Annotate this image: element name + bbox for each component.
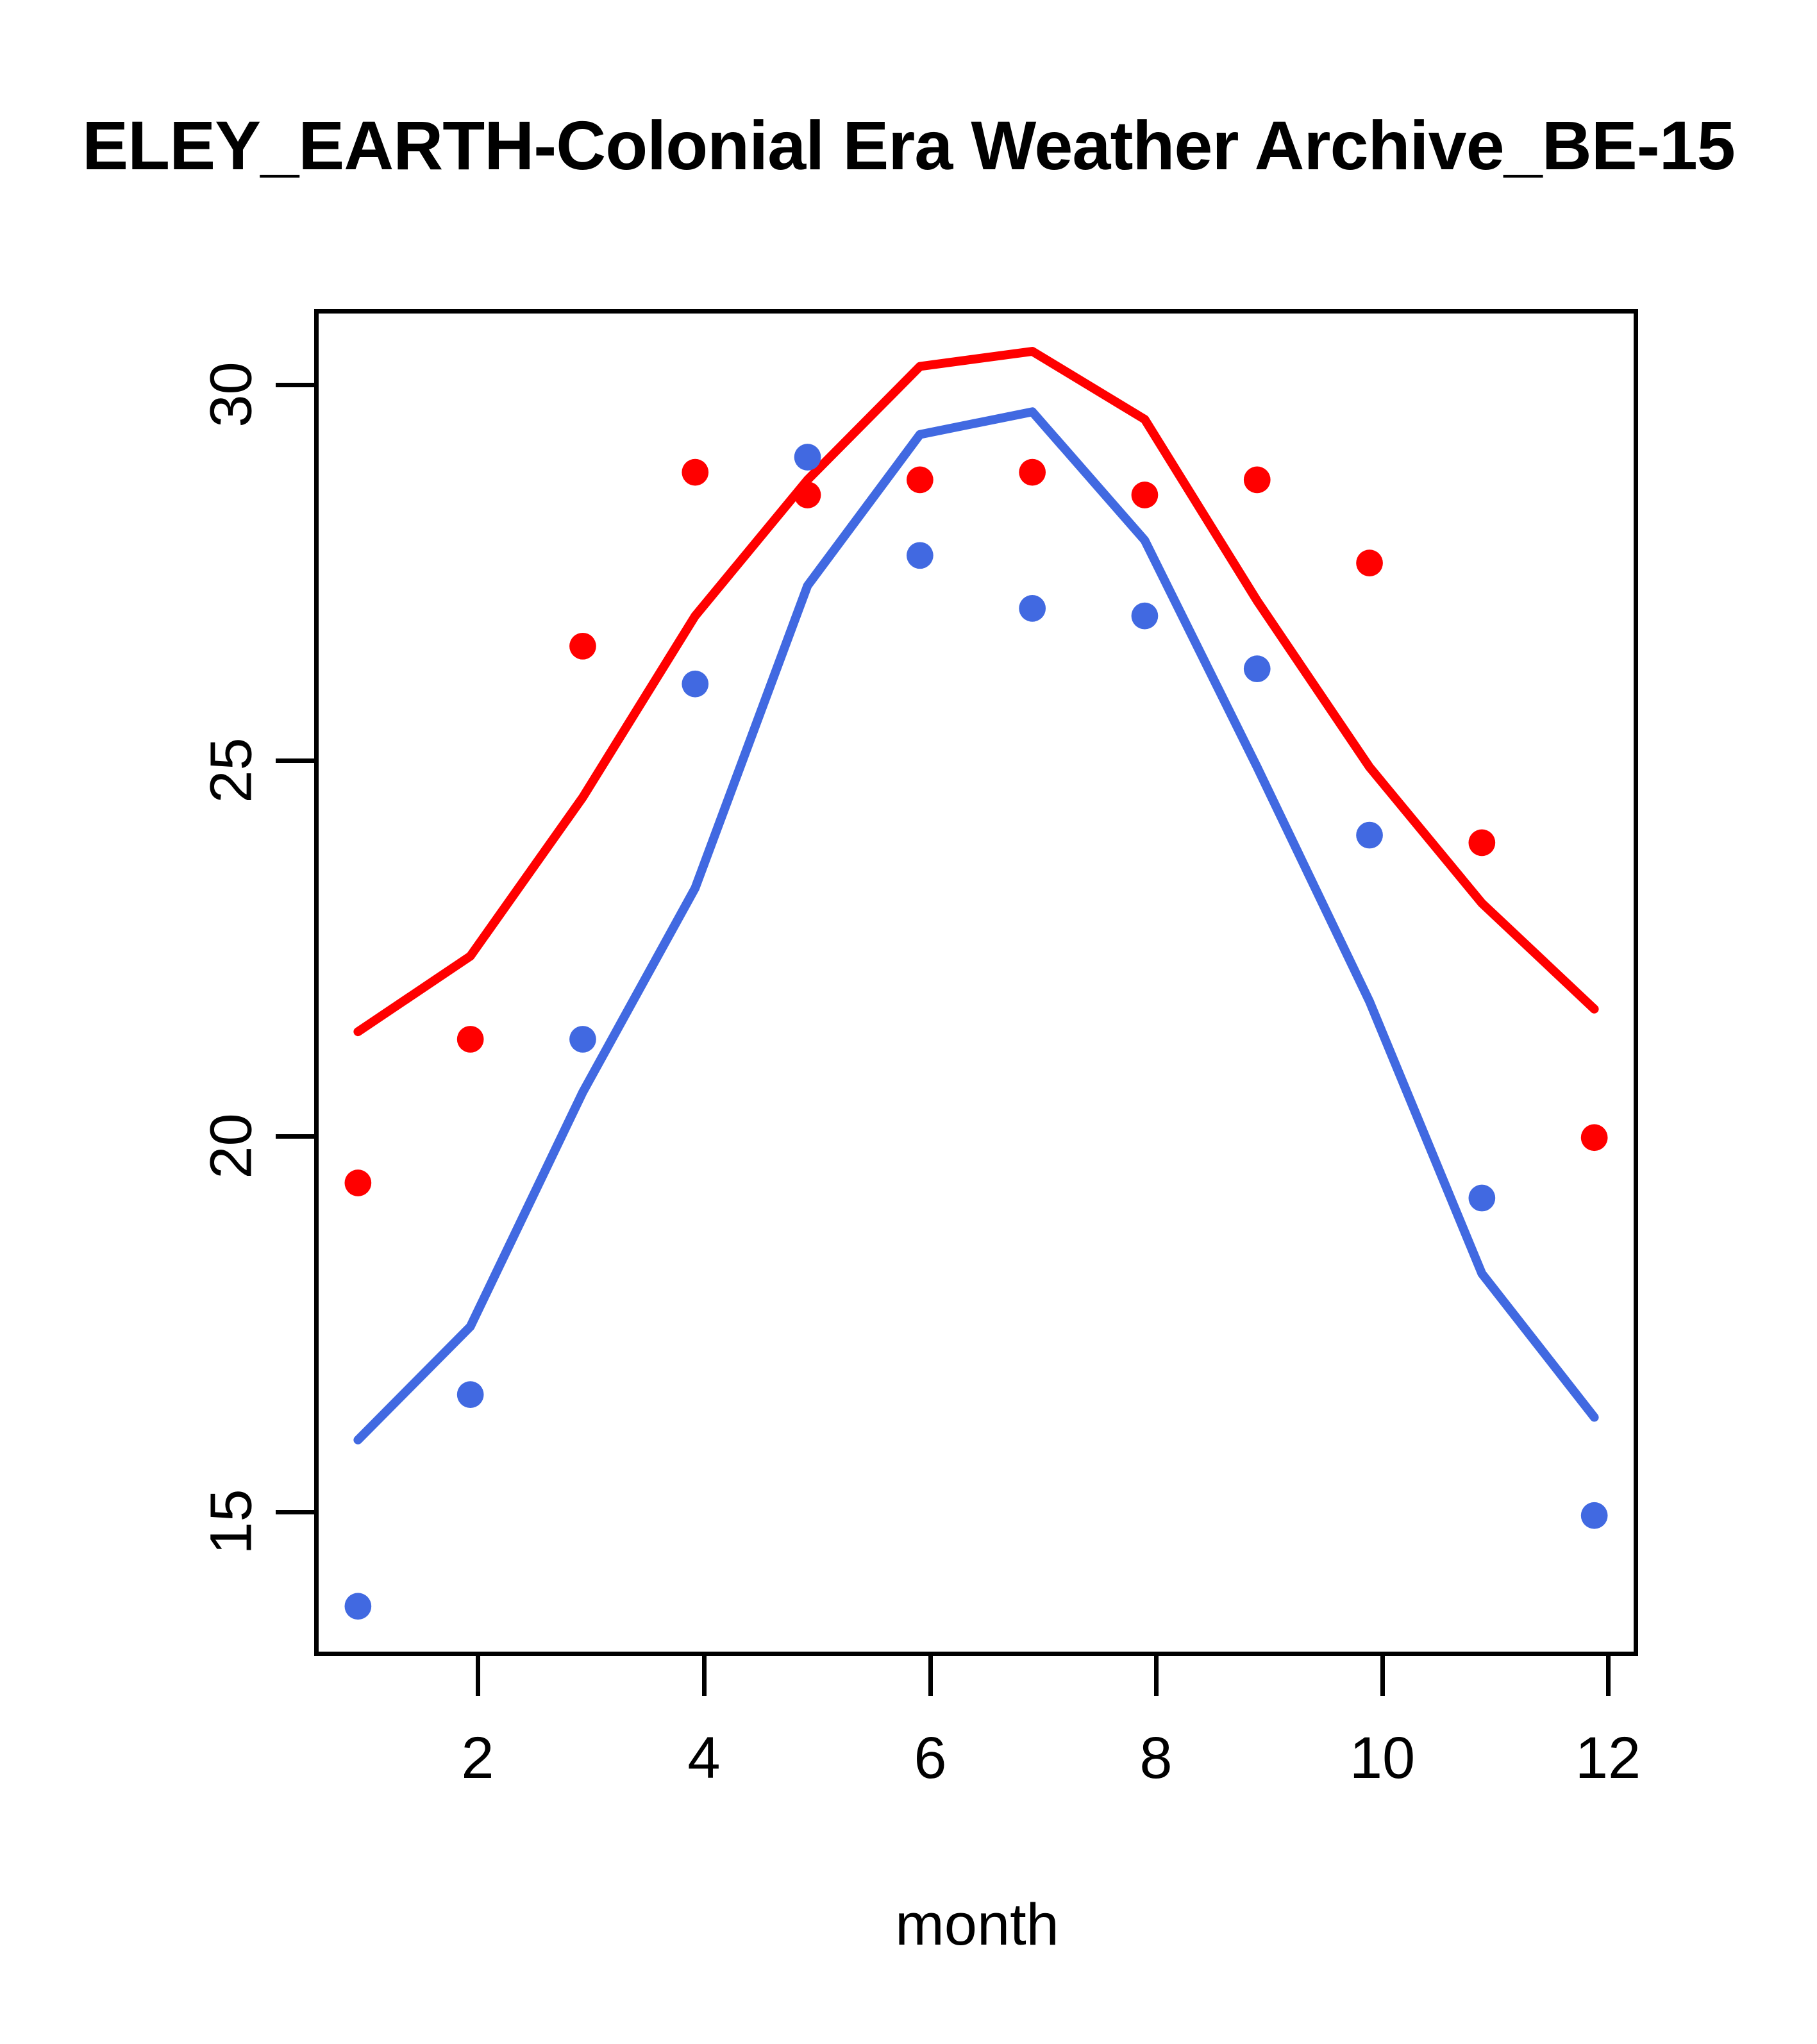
xtick-label-4: 4 [687,1725,720,1792]
ytick-mark-25 [276,758,315,763]
data-point [907,467,934,494]
data-point [1468,1185,1495,1212]
data-point [1019,459,1046,486]
data-point [457,1381,484,1408]
data-point [1244,655,1271,682]
page-title: ELEY_EARTH-Colonial Era Weather Archive_… [82,108,1735,183]
red-line [358,351,1594,1032]
xtick-mark-12 [1606,1656,1611,1696]
data-point [1132,482,1159,508]
data-point [1356,822,1383,849]
data-point [344,1593,371,1620]
ytick-label-20: 20 [198,1113,265,1178]
x-axis-title: month [895,1891,1059,1959]
plot-canvas [319,314,1634,1652]
data-point [794,444,821,471]
xtick-mark-2 [476,1656,480,1696]
ytick-mark-15 [276,1510,315,1514]
chart-page: ELEY_EARTH-Colonial Era Weather Archive_… [0,0,1817,2044]
ytick-label-25: 25 [198,737,265,803]
xtick-mark-4 [702,1656,707,1696]
data-point [569,1026,596,1053]
data-point [682,671,708,698]
data-point [1581,1502,1608,1529]
ytick-label-15: 15 [198,1489,265,1554]
data-point [1581,1124,1608,1151]
data-point [569,633,596,660]
ytick-label-30: 30 [198,362,265,427]
data-point [907,542,934,569]
data-point [682,459,708,486]
xtick-mark-10 [1380,1656,1385,1696]
data-point [1356,549,1383,576]
data-point [1244,467,1271,494]
data-point [344,1169,371,1196]
xtick-mark-8 [1154,1656,1159,1696]
blue-line [358,412,1594,1440]
blue-points [344,444,1607,1620]
data-point [1132,603,1159,630]
xtick-label-8: 8 [1139,1725,1172,1792]
data-point [794,482,821,508]
xtick-label-12: 12 [1575,1725,1641,1792]
ytick-mark-30 [276,383,315,387]
xtick-label-6: 6 [914,1725,946,1792]
ytick-mark-20 [276,1134,315,1139]
plot-area [314,309,1638,1656]
xtick-label-10: 10 [1350,1725,1415,1792]
data-point [1019,595,1046,622]
data-point [457,1026,484,1053]
data-point [1468,830,1495,857]
xtick-mark-6 [928,1656,933,1696]
xtick-label-2: 2 [461,1725,494,1792]
